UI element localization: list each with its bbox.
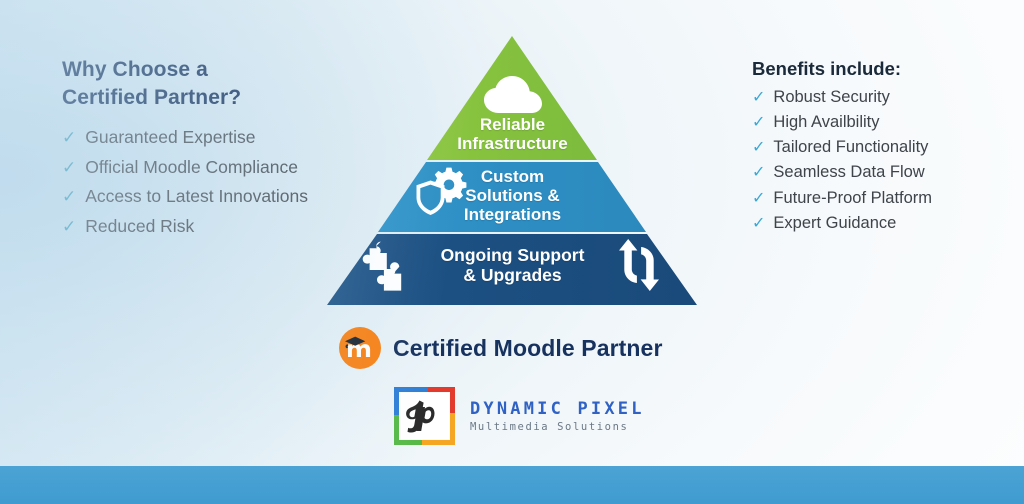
list-item-label: Seamless Data Flow xyxy=(773,162,924,183)
dynamic-pixel-wordmark: DYNAMIC PIXEL Multimedia Solutions xyxy=(470,399,645,433)
list-item-label: Robust Security xyxy=(773,87,889,108)
list-item-label: High Availbility xyxy=(773,112,879,133)
right-panel-heading: Benefits include: xyxy=(752,58,1002,80)
dynamic-pixel-logo: DYNAMIC PIXEL Multimedia Solutions xyxy=(392,385,645,447)
moodle-logo-icon xyxy=(339,327,381,369)
check-icon: ✓ xyxy=(752,140,765,156)
check-icon: ✓ xyxy=(752,216,765,232)
list-item: ✓ Future-Proof Platform xyxy=(752,188,1002,209)
pyramid-tier-middle xyxy=(378,162,646,232)
dynamic-pixel-mark-icon xyxy=(392,385,457,447)
check-icon: ✓ xyxy=(62,159,76,176)
pyramid-diagram: Reliable Infrastructure Custom Solutions… xyxy=(327,36,698,306)
list-item-label: Access to Latest Innovations xyxy=(85,186,308,208)
check-icon: ✓ xyxy=(62,188,76,205)
moodle-partner-label: Certified Moodle Partner xyxy=(393,335,663,362)
check-icon: ✓ xyxy=(62,218,76,235)
list-item-label: Future-Proof Platform xyxy=(773,188,932,209)
list-item: ✓ Expert Guidance xyxy=(752,213,1002,234)
dynamic-pixel-subtitle: Multimedia Solutions xyxy=(470,421,645,433)
dynamic-pixel-title: DYNAMIC PIXEL xyxy=(470,399,645,419)
right-benefits-list: ✓ Robust Security ✓ High Availbility ✓ T… xyxy=(752,87,1002,233)
list-item: ✓ High Availbility xyxy=(752,112,1002,133)
check-icon: ✓ xyxy=(752,191,765,207)
pyramid-shape xyxy=(327,36,698,306)
infographic-canvas: Why Choose a Certified Partner? ✓ Guaran… xyxy=(0,0,1024,504)
certified-moodle-partner: Certified Moodle Partner xyxy=(339,327,663,369)
pyramid-tier-top xyxy=(427,36,597,160)
check-icon: ✓ xyxy=(752,90,765,106)
right-panel: Benefits include: ✓ Robust Security ✓ Hi… xyxy=(752,58,1002,238)
list-item-label: Expert Guidance xyxy=(773,213,896,234)
list-item-label: Official Moodle Compliance xyxy=(85,157,298,179)
check-icon: ✓ xyxy=(752,115,765,131)
list-item-label: Tailored Functionality xyxy=(773,137,928,158)
check-icon: ✓ xyxy=(752,165,765,181)
check-icon: ✓ xyxy=(62,129,76,146)
list-item: ✓ Robust Security xyxy=(752,87,1002,108)
list-item: ✓ Seamless Data Flow xyxy=(752,162,1002,183)
list-item-label: Reduced Risk xyxy=(85,216,194,238)
list-item: ✓ Tailored Functionality xyxy=(752,137,1002,158)
list-item-label: Guaranteed Expertise xyxy=(85,127,255,149)
bottom-accent-bar xyxy=(0,466,1024,504)
pyramid-tier-bottom xyxy=(327,234,697,305)
